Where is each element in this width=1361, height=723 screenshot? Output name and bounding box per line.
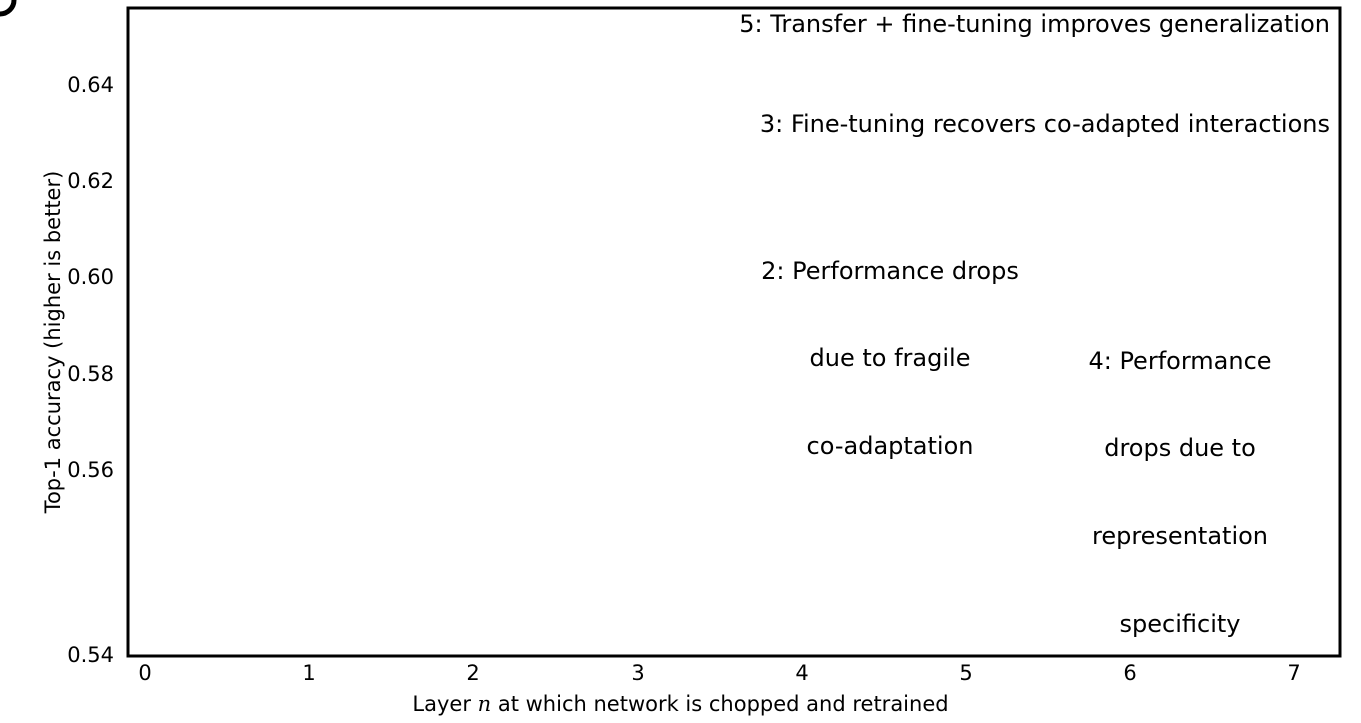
annotation-5: 5: Transfer + fine-tuning improves gener…: [440, 10, 1330, 39]
ytick-label-5: 0.54: [18, 643, 114, 667]
y-axis-label: Top-1 accuracy (higher is better): [41, 82, 65, 602]
ytick-label-2: 0.60: [18, 265, 114, 289]
xtick-label-1: 1: [279, 661, 339, 685]
annotation-3: 3: Fine-tuning recovers co-adapted inter…: [440, 110, 1330, 139]
ytick-label-4: 0.56: [18, 458, 114, 482]
ytick-label-0: 0.64: [18, 73, 114, 97]
xtick-label-2: 2: [443, 661, 503, 685]
xtick-label-3: 3: [608, 661, 668, 685]
annotation-4: 4: Performance drops due to representati…: [1035, 288, 1325, 698]
annotation-2: 2: Performance drops due to fragile co-a…: [730, 198, 1050, 520]
annotation-4-line-1: 4: Performance: [1035, 347, 1325, 376]
xtick-label-4: 4: [772, 661, 832, 685]
annotation-2-line-2: due to fragile: [730, 344, 1050, 373]
xtick-label-0: 0: [115, 661, 175, 685]
xtick-label-5: 5: [936, 661, 996, 685]
annotation-2-line-1: 2: Performance drops: [730, 257, 1050, 286]
annotation-4-line-4: specificity: [1035, 610, 1325, 639]
start-point-marker: [0, 0, 14, 14]
annotation-2-line-3: co-adaptation: [730, 432, 1050, 461]
ytick-label-3: 0.58: [18, 362, 114, 386]
ytick-label-1: 0.62: [18, 169, 114, 193]
x-axis-label-suffix: at which network is chopped and retraine…: [491, 692, 948, 716]
x-axis-label-variable: n: [478, 692, 492, 716]
annotation-4-line-3: representation: [1035, 522, 1325, 551]
chart-figure: 0.64 0.62 0.60 0.58 0.56 0.54 0 1 2 3 4 …: [0, 0, 1361, 723]
annotation-4-line-2: drops due to: [1035, 434, 1325, 463]
x-axis-label-prefix: Layer: [412, 692, 477, 716]
